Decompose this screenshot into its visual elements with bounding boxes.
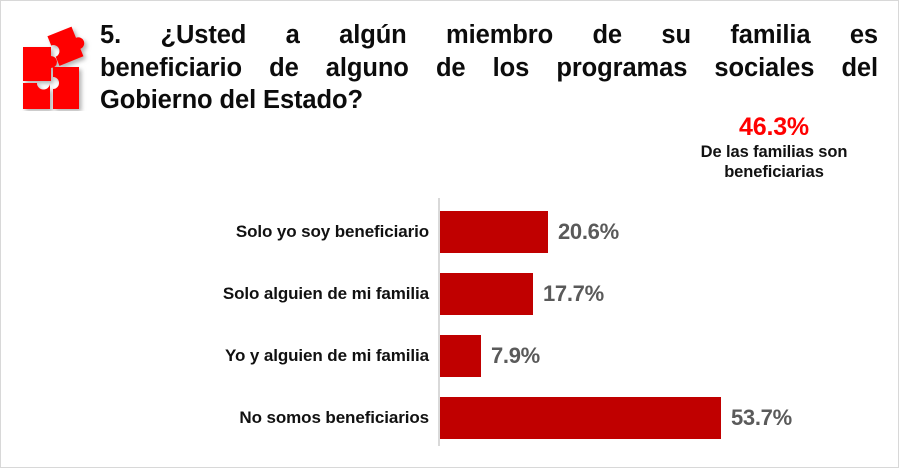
chart-value-label: 17.7%	[543, 273, 604, 315]
page-title: 5. ¿Usted a algún miembro de su familia …	[100, 19, 878, 117]
puzzle-pieces-logo	[11, 19, 93, 111]
chart-bar-row: Solo alguien de mi familia 17.7%	[1, 273, 899, 315]
chart-bar-row: No somos beneficiarios 53.7%	[1, 397, 899, 439]
callout-percent: 46.3%	[649, 113, 899, 142]
slide-canvas: 5. ¿Usted a algún miembro de su familia …	[0, 0, 899, 468]
chart-bar	[440, 273, 533, 315]
page-title-line-2: beneficiario de alguno de los programas …	[100, 52, 878, 85]
chart-bar-row: Solo yo soy beneficiario 20.6%	[1, 211, 899, 253]
chart-value-label: 20.6%	[558, 211, 619, 253]
bar-chart: Solo yo soy beneficiario 20.6% Solo algu…	[1, 193, 899, 449]
chart-category-label: Yo y alguien de mi familia	[225, 335, 429, 377]
chart-value-label: 53.7%	[731, 397, 792, 439]
page-title-line-3: Gobierno del Estado?	[100, 84, 878, 117]
callout-text-line-1: De las familias son	[649, 142, 899, 162]
chart-bar	[440, 397, 721, 439]
chart-bar	[440, 335, 481, 377]
summary-callout: 46.3% De las familias son beneficiarias	[649, 113, 899, 182]
chart-bar	[440, 211, 548, 253]
chart-category-label: No somos beneficiarios	[239, 397, 429, 439]
chart-value-label: 7.9%	[491, 335, 540, 377]
page-title-line-1: 5. ¿Usted a algún miembro de su familia …	[100, 19, 878, 52]
chart-category-label: Solo alguien de mi familia	[223, 273, 429, 315]
chart-category-label: Solo yo soy beneficiario	[236, 211, 429, 253]
chart-bar-row: Yo y alguien de mi familia 7.9%	[1, 335, 899, 377]
callout-text-line-2: beneficiarias	[649, 162, 899, 182]
puzzle-pieces-icon	[11, 19, 93, 111]
